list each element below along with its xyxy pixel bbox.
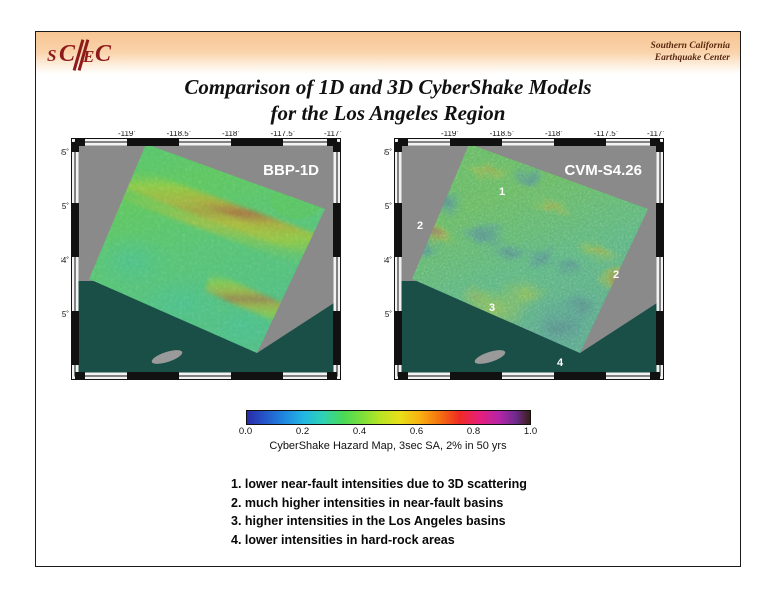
logo-letter-e: E	[83, 47, 93, 67]
colorbar-tick-0: 0.0	[239, 426, 252, 437]
lon-tick-labels-left: -119˚ -118.5˚ -118˚ -117.5˚ -117˚	[118, 131, 342, 138]
annotation-4: 4	[557, 357, 564, 369]
organization-name: Southern California Earthquake Center	[651, 41, 730, 64]
svg-text:35˚: 35˚	[384, 148, 392, 157]
org-line-1: Southern California	[651, 41, 730, 53]
annotation-2b: 2	[613, 269, 619, 281]
header-band: S C E C Southern California Earthquake C…	[36, 32, 740, 74]
svg-text:35˚: 35˚	[61, 148, 69, 157]
slide-frame: S C E C Southern California Earthquake C…	[35, 31, 741, 567]
lat-tick-labels-left: 35˚ 34.5˚ 34˚ 33.5˚	[61, 148, 69, 319]
list-item: 4. lower intensities in hard-rock areas	[231, 531, 527, 550]
colorbar-caption: CyberShake Hazard Map, 3sec SA, 2% in 50…	[36, 440, 740, 452]
title-line-1: Comparison of 1D and 3D CyberShake Model…	[36, 74, 740, 100]
svg-text:-117.5˚: -117.5˚	[594, 131, 619, 138]
findings-list: 1. lower near-fault intensities due to 3…	[231, 475, 527, 549]
colorbar-tick-2: 0.4	[353, 426, 366, 437]
svg-text:34˚: 34˚	[384, 256, 392, 265]
svg-text:-117˚: -117˚	[647, 131, 665, 138]
svg-text:-119˚: -119˚	[441, 131, 459, 138]
logo-letter-s: S	[47, 46, 55, 66]
colorbar-section: 0.0 0.2 0.4 0.6 0.8 1.0 CyberShake Hazar…	[36, 410, 740, 452]
org-line-2: Earthquake Center	[651, 53, 730, 65]
svg-text:33.5˚: 33.5˚	[384, 310, 392, 319]
svg-text:-118˚: -118˚	[222, 131, 240, 138]
logo-letter-c2: C	[95, 41, 110, 68]
colorbar-tick-1: 0.2	[296, 426, 309, 437]
title-line-2: for the Los Angeles Region	[36, 100, 740, 126]
map-label-right: CVM-S4.26	[564, 162, 642, 179]
annotation-3: 3	[489, 302, 495, 314]
list-item: 2. much higher intensities in near-fault…	[231, 494, 527, 513]
lat-tick-labels-right: 35˚ 34.5˚ 34˚ 33.5˚	[384, 148, 392, 319]
svg-text:33.5˚: 33.5˚	[61, 310, 69, 319]
svg-text:-118˚: -118˚	[545, 131, 563, 138]
logo-letter-c1: C	[59, 41, 74, 68]
annotation-1: 1	[499, 186, 505, 198]
svg-text:34˚: 34˚	[61, 256, 69, 265]
lon-tick-labels-right: -119˚ -118.5˚ -118˚ -117.5˚ -117˚	[441, 131, 665, 138]
list-item: 1. lower near-fault intensities due to 3…	[231, 475, 527, 494]
svg-text:34.5˚: 34.5˚	[61, 202, 69, 211]
svg-text:-117.5˚: -117.5˚	[271, 131, 296, 138]
svg-text:-119˚: -119˚	[118, 131, 136, 138]
map-panel-bbp-1d[interactable]: -119˚ -118.5˚ -118˚ -117.5˚ -117˚ 35˚ 34…	[61, 131, 351, 397]
map-panel-cvm-s426[interactable]: -119˚ -118.5˚ -118˚ -117.5˚ -117˚ 35˚ 34…	[384, 131, 674, 397]
scec-logo: S C E C	[45, 37, 145, 71]
colorbar-tick-5: 1.0	[524, 426, 537, 437]
svg-text:-117˚: -117˚	[324, 131, 342, 138]
colorbar-gradient	[246, 410, 531, 425]
svg-text:34.5˚: 34.5˚	[384, 202, 392, 211]
colorbar-tick-3: 0.6	[410, 426, 423, 437]
svg-text:-118.5˚: -118.5˚	[490, 131, 515, 138]
annotation-2a: 2	[417, 220, 423, 232]
colorbar-tick-4: 0.8	[467, 426, 480, 437]
svg-text:-118.5˚: -118.5˚	[167, 131, 192, 138]
page-title: Comparison of 1D and 3D CyberShake Model…	[36, 74, 740, 126]
list-item: 3. higher intensities in the Los Angeles…	[231, 512, 527, 531]
map-label-left: BBP-1D	[263, 162, 319, 179]
colorbar-tick-labels: 0.0 0.2 0.4 0.6 0.8 1.0	[246, 426, 531, 439]
